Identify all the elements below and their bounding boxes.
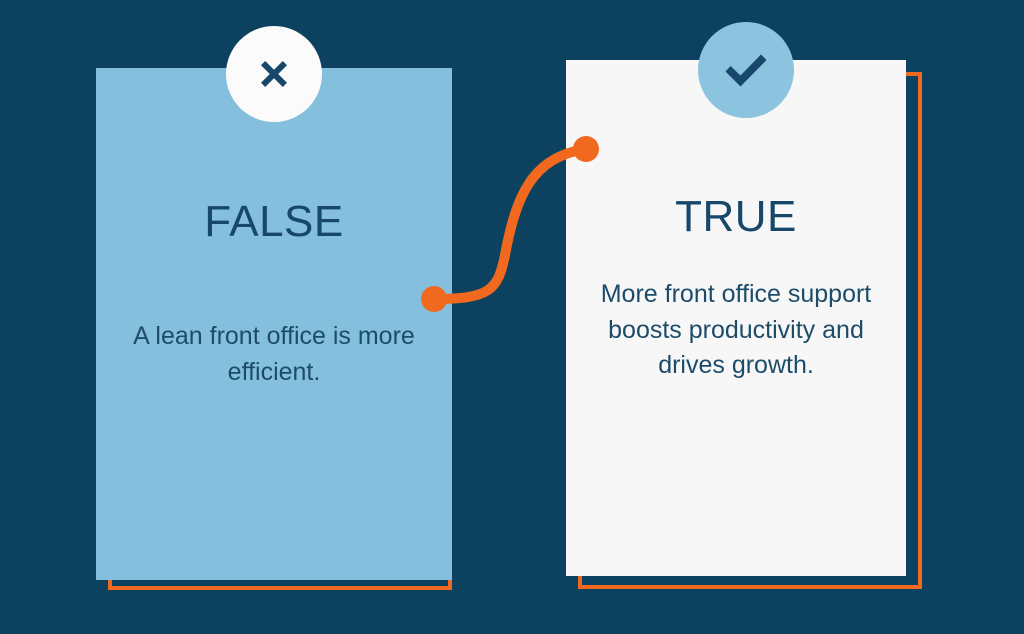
- false-card-title: FALSE: [204, 200, 343, 244]
- true-card-title: TRUE: [675, 195, 797, 239]
- false-card[interactable]: FALSE A lean front office is more effici…: [96, 68, 452, 580]
- true-card-body: More front office support boosts product…: [566, 277, 906, 384]
- check-mark-icon: [698, 22, 794, 118]
- comparison-graphic: FALSE A lean front office is more effici…: [0, 0, 1024, 634]
- true-card[interactable]: TRUE More front office support boosts pr…: [566, 60, 906, 576]
- close-x-icon: [226, 26, 322, 122]
- false-card-body: A lean front office is more efficient.: [96, 319, 452, 390]
